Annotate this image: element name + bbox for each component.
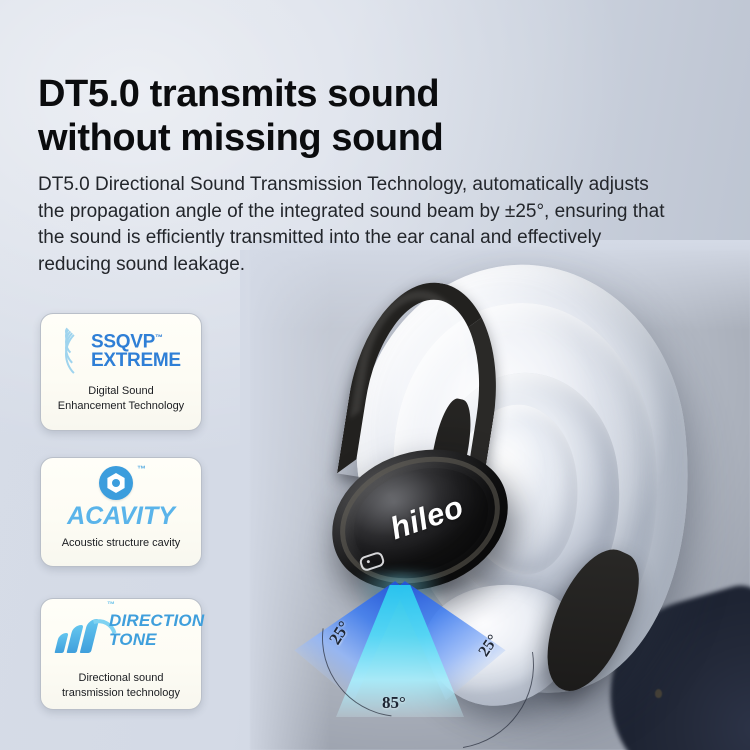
direction-caption-line-2: transmission technology: [47, 686, 195, 701]
ssqvp-caption: Digital Sound Enhancement Technology: [47, 384, 195, 413]
ssqvp-text: SSQVP: [91, 331, 155, 352]
acavity-caption-line-1: Acoustic structure cavity: [47, 536, 195, 551]
angle-label-center: 85°: [382, 693, 406, 713]
trademark-icon: ™: [137, 464, 146, 474]
ssqvp-caption-line-2: Enhancement Technology: [47, 399, 195, 414]
trademark-icon: ™: [107, 600, 115, 609]
direction-line-1: DIRECTION: [109, 611, 204, 630]
hexagon-cavity-icon: [99, 466, 133, 500]
ssqvp-caption-line-1: Digital Sound: [47, 384, 195, 399]
ssqvp-line-2: EXTREME: [91, 351, 181, 371]
ssqvp-line-1: SSQVP™: [91, 328, 181, 351]
feature-card-ssqvp: SSQVP™ EXTREME Digital Sound Enhancement…: [40, 313, 202, 431]
trademark-icon: ™: [155, 333, 163, 342]
ssqvp-logo: SSQVP™ EXTREME: [47, 322, 195, 378]
acavity-logo: ™ ACAVITY: [47, 466, 195, 530]
acavity-caption: Acoustic structure cavity: [47, 536, 195, 551]
sound-beam-diagram: 25° 85° 25°: [250, 575, 590, 750]
direction-tone-logo: ™ DIRECTION TONE: [47, 607, 195, 665]
feature-card-acavity: ™ ACAVITY Acoustic structure cavity: [40, 457, 202, 567]
ssqvp-wordmark: SSQVP™ EXTREME: [91, 328, 181, 371]
page-title: DT5.0 transmits sound without missing so…: [38, 72, 658, 160]
acavity-wordmark: ACAVITY: [47, 502, 195, 531]
direction-line-2: TONE: [109, 630, 204, 649]
direction-tone-wordmark: DIRECTION TONE: [109, 611, 204, 649]
headline-line-2: without missing sound: [38, 116, 658, 160]
product-marketing-banner: hileo 25° 85° 25° DT5.0 transmits sound …: [0, 0, 750, 750]
direction-swoosh-icon: [57, 617, 109, 653]
direction-tone-caption: Directional sound transmission technolog…: [47, 671, 195, 700]
description-paragraph: DT5.0 Directional Sound Transmission Tec…: [38, 172, 668, 278]
headline-line-1: DT5.0 transmits sound: [38, 73, 439, 115]
feature-card-direction-tone: ™ DIRECTION TONE Directional sound trans…: [40, 598, 202, 710]
direction-caption-line-1: Directional sound: [47, 671, 195, 686]
